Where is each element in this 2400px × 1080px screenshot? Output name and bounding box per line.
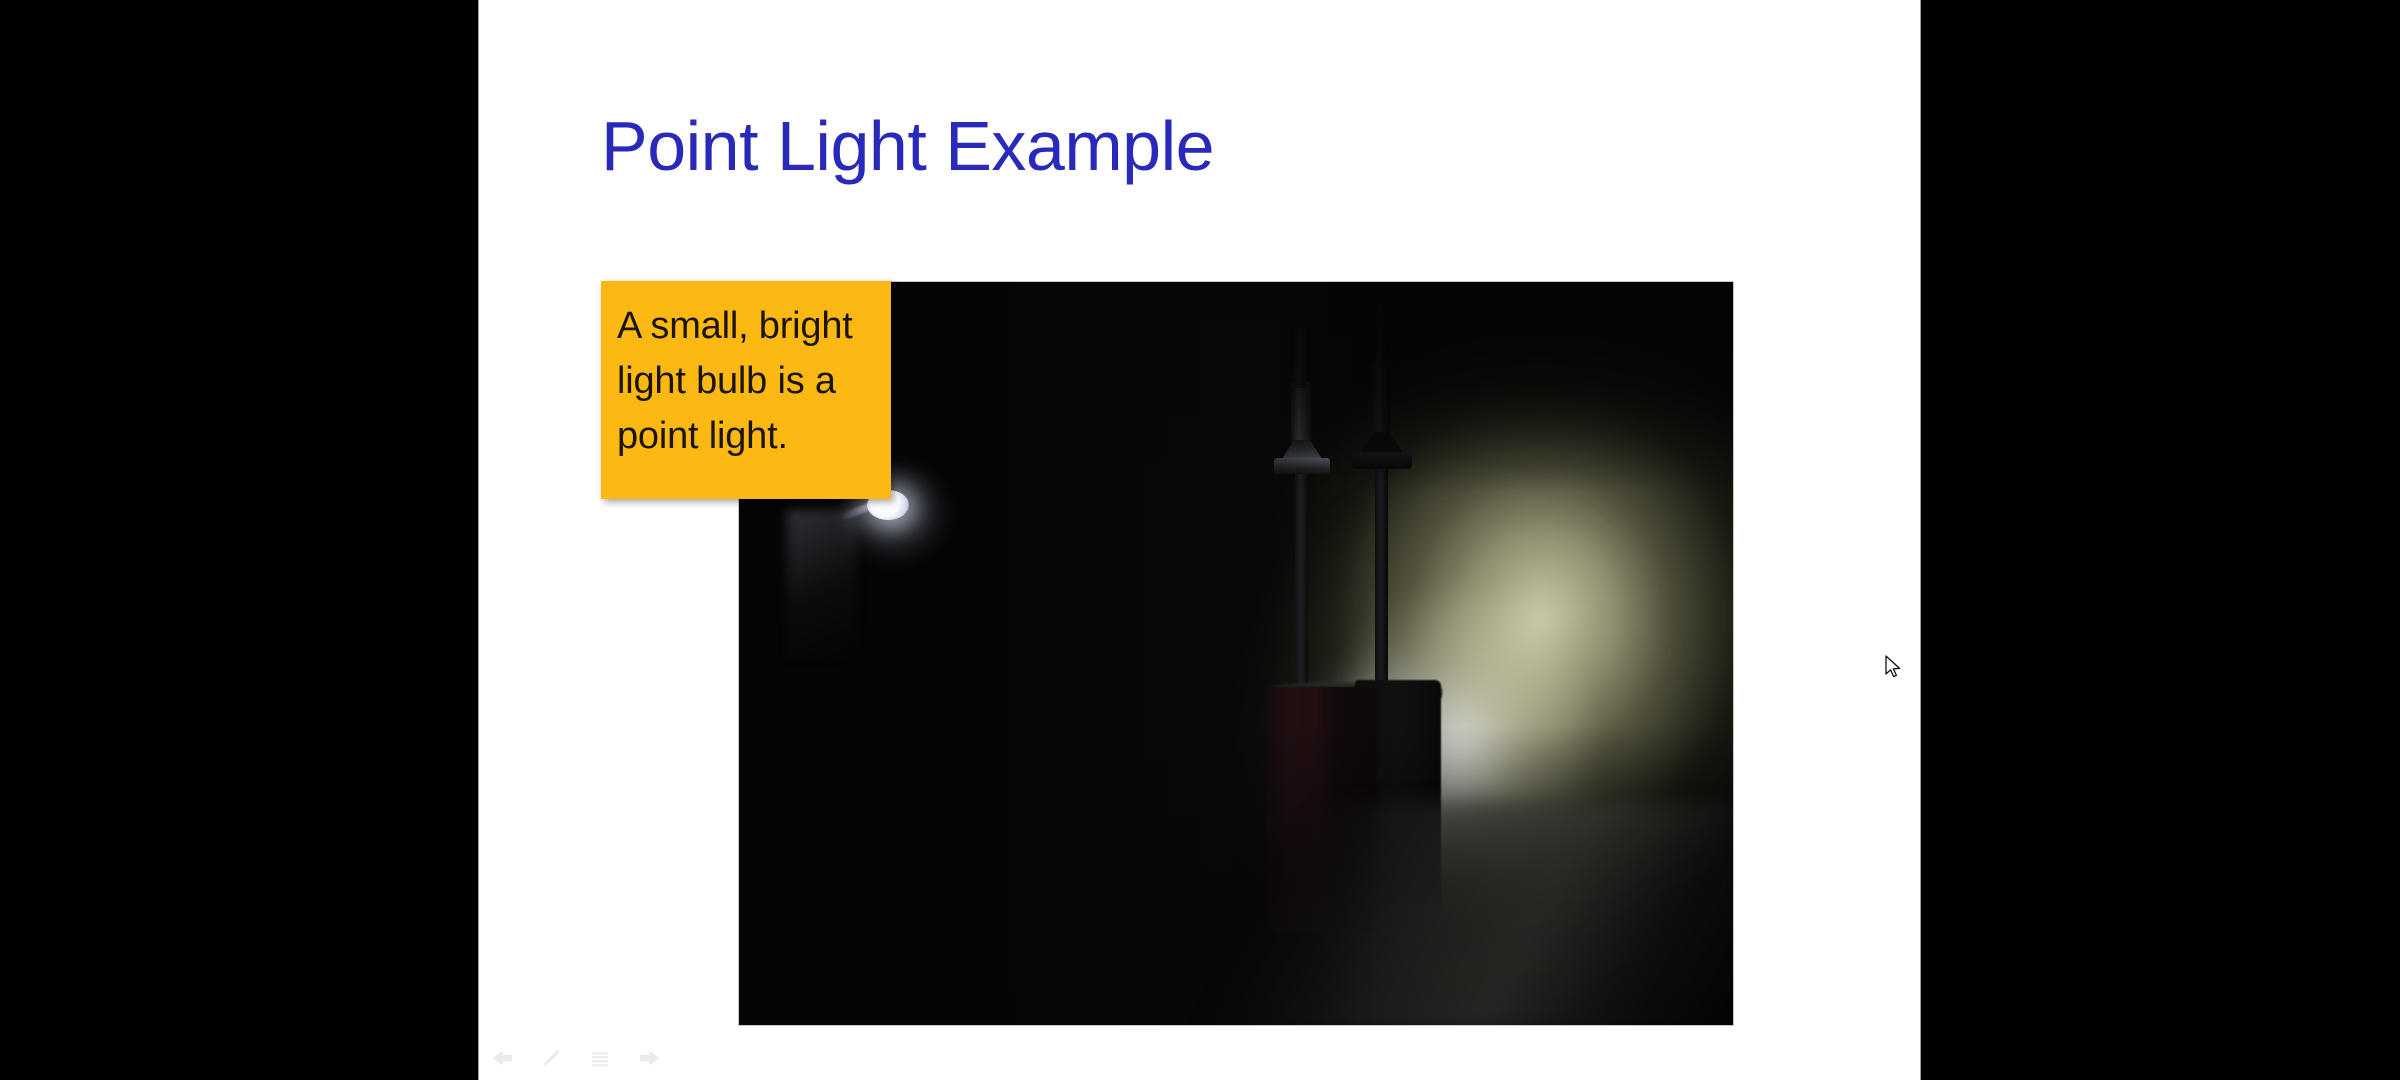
- caption-text: A small, bright light bulb is a point li…: [617, 299, 877, 464]
- letterbox-right: [1921, 0, 2400, 1080]
- redo-arrow-icon[interactable]: [635, 1046, 661, 1072]
- letterbox-left: [0, 0, 478, 1080]
- presentation-viewer: Point Light Example: [0, 0, 2400, 1080]
- menu-list-icon[interactable]: [587, 1046, 613, 1072]
- slideshow-toolbar[interactable]: [491, 1046, 661, 1072]
- slide-canvas[interactable]: Point Light Example: [478, 0, 1921, 1080]
- pen-icon[interactable]: [539, 1046, 565, 1072]
- page-title: Point Light Example: [601, 108, 1214, 185]
- caption-callout: A small, bright light bulb is a point li…: [601, 281, 891, 499]
- arrow-cursor: [1884, 655, 1904, 681]
- undo-arrow-icon[interactable]: [491, 1046, 517, 1072]
- lamp-arm: [787, 510, 857, 660]
